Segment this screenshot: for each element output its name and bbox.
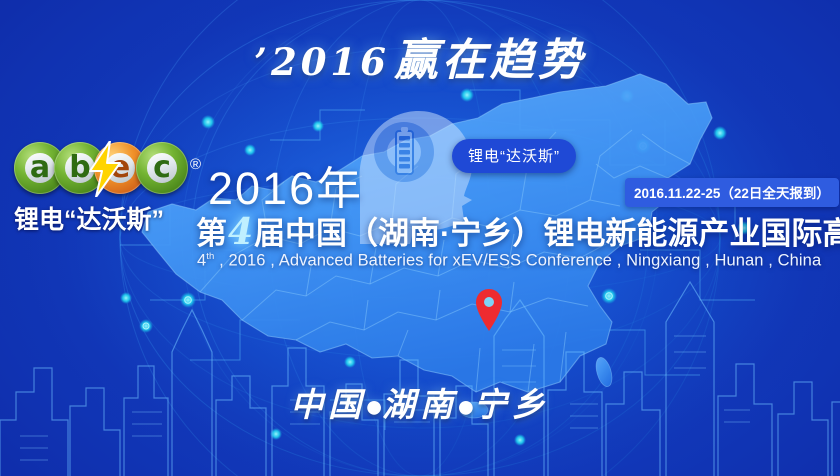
footer-sep-1: ● bbox=[366, 397, 382, 418]
conference-poster: ’2016赢在趋势 a b e c ® 锂电“达沃斯” 2016年 第4届中国（… bbox=[0, 0, 840, 476]
davos-badge[interactable]: 锂电“达沃斯” bbox=[452, 139, 576, 173]
logo-letter-c: c bbox=[136, 142, 188, 194]
main-subtitle-en: 4th , 2016 , Advanced Batteries for xEV/… bbox=[197, 251, 821, 271]
footer-country: 中国 bbox=[290, 385, 366, 424]
abec-logo[interactable]: a b e c ® 锂电“达沃斯” bbox=[14, 142, 194, 236]
main-title-number: 4 bbox=[227, 211, 254, 253]
subtitle-tail: , 2016 , Advanced Batteries for xEV/ESS … bbox=[214, 252, 821, 270]
lightning-bolt-icon bbox=[86, 141, 126, 197]
subtitle-lead: 4 bbox=[197, 252, 206, 270]
logo-subtitle: 锂电“达沃斯” bbox=[14, 200, 194, 236]
main-title-prefix: 第 bbox=[196, 216, 227, 251]
headline-year: ’2016 bbox=[254, 40, 390, 84]
headline-text: 赢在趋势 bbox=[394, 35, 586, 86]
headline-slogan: ’2016赢在趋势 bbox=[0, 24, 840, 88]
abec-logo-letters: a b e c ® bbox=[14, 142, 190, 196]
main-title-rest: 届中国（湖南·宁乡）锂电新能源产业国际高峰论坛 bbox=[254, 216, 840, 251]
location-footer: 中国●湖南●宁乡 bbox=[0, 378, 840, 426]
date-badge[interactable]: 2016.11.22-25（22日全天报到） bbox=[625, 178, 839, 207]
footer-sep-2: ● bbox=[458, 397, 474, 418]
registered-mark: ® bbox=[190, 156, 201, 173]
main-title: 第4届中国（湖南·宁乡）锂电新能源产业国际高峰论坛 bbox=[196, 208, 840, 253]
footer-city: 宁乡 bbox=[474, 385, 550, 424]
footer-province: 湖南 bbox=[382, 385, 458, 424]
